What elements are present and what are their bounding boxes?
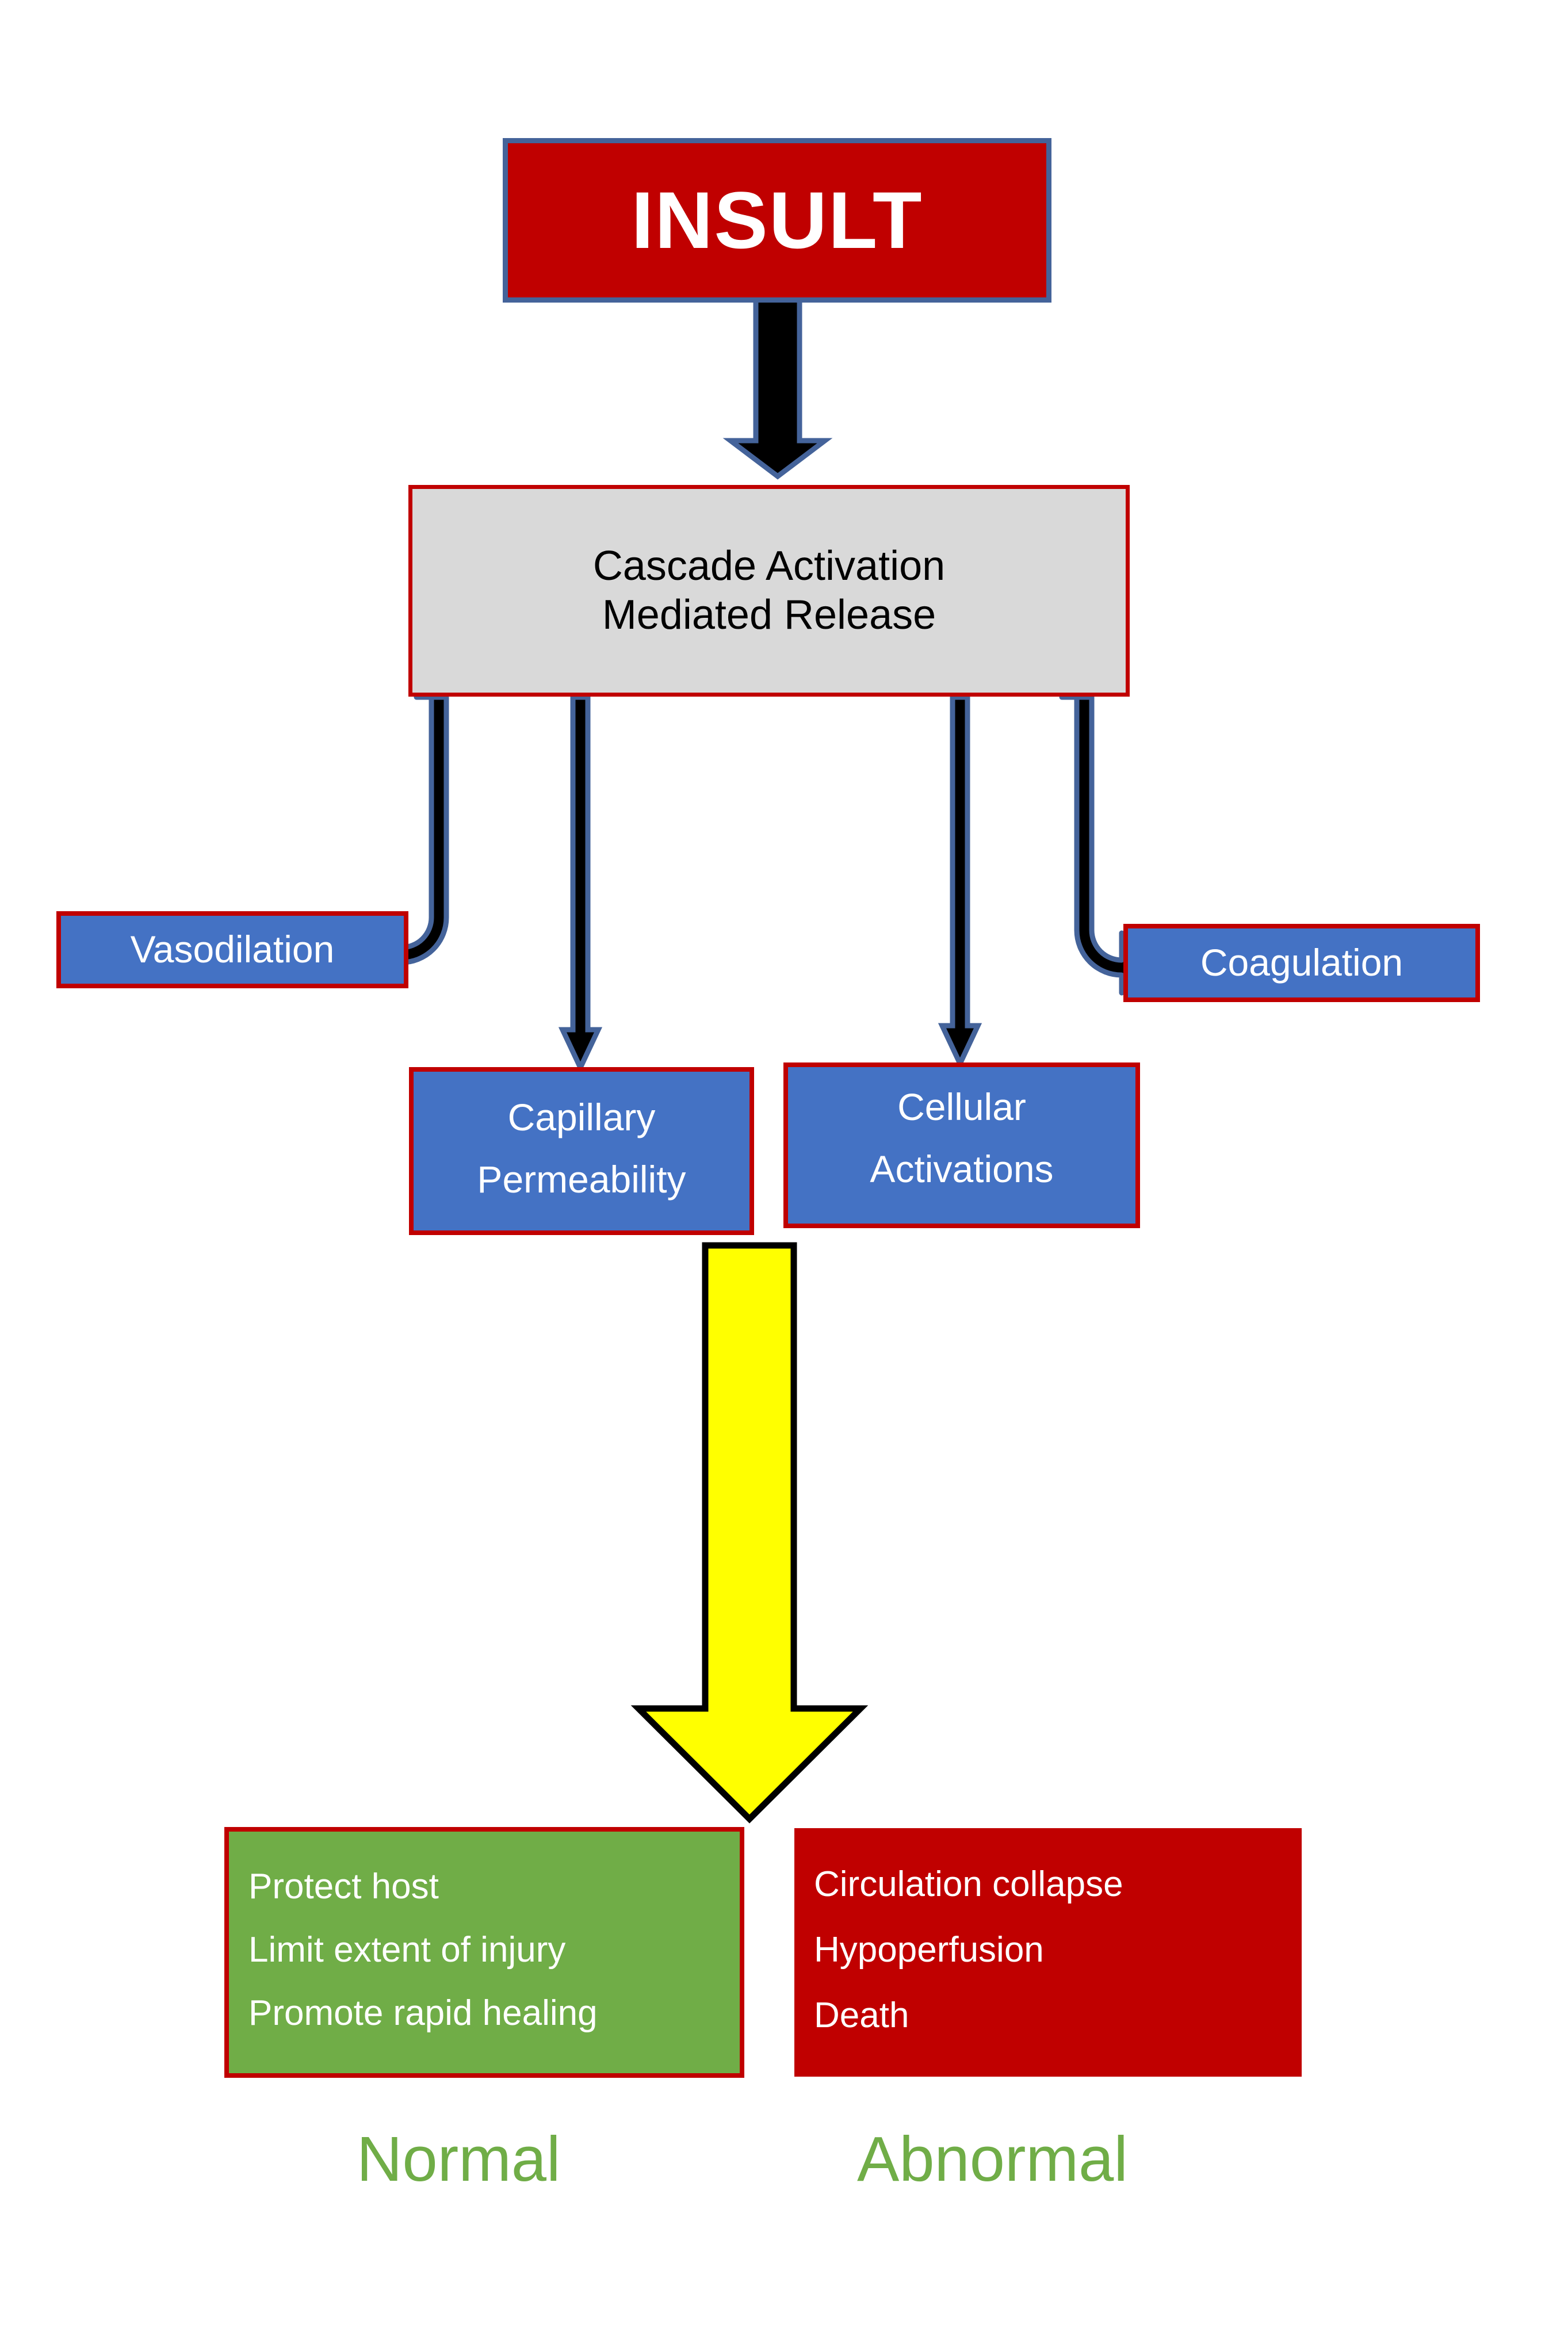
- arrow-to-outcomes-big: [638, 1245, 861, 1819]
- coagulation-label: Coagulation: [1200, 941, 1403, 985]
- normal-outcome-item: Promote rapid healing: [248, 1993, 740, 2034]
- capillary-permeability-node: Capillary Permeability: [409, 1067, 754, 1235]
- coagulation-node: Coagulation: [1123, 924, 1480, 1002]
- abnormal-outcome-node: Circulation collapse Hypoperfusion Death: [794, 1828, 1302, 2077]
- cascade-label-line2: Mediated Release: [602, 591, 936, 640]
- vasodilation-label: Vasodilation: [131, 927, 335, 972]
- insult-label: INSULT: [631, 173, 923, 267]
- cellular-activations-node: Cellular Activations: [783, 1062, 1140, 1228]
- cellular-label-line2: Activations: [870, 1147, 1053, 1192]
- abnormal-caption: Abnormal: [857, 2123, 1128, 2196]
- capillary-label-line2: Permeability: [477, 1157, 686, 1202]
- normal-outcome-node: Protect host Limit extent of injury Prom…: [224, 1827, 744, 2078]
- insult-node: INSULT: [503, 138, 1051, 303]
- abnormal-outcome-item: Hypoperfusion: [814, 1929, 1302, 1970]
- capillary-label-line1: Capillary: [508, 1095, 656, 1140]
- normal-outcome-item: Protect host: [248, 1866, 740, 1907]
- cellular-label-line1: Cellular: [897, 1085, 1026, 1130]
- normal-caption: Normal: [357, 2123, 561, 2196]
- cascade-activation-node: Cascade Activation Mediated Release: [408, 485, 1130, 697]
- abnormal-outcome-item: Circulation collapse: [814, 1864, 1302, 1905]
- cascade-label-line1: Cascade Activation: [593, 542, 945, 591]
- arrow-cascade-to-capillary: [563, 697, 598, 1068]
- arrow-cascade-to-cellular: [942, 697, 978, 1064]
- abnormal-outcome-item: Death: [814, 1995, 1302, 2036]
- flowchart-canvas: INSULT Cascade Activation Mediated Relea…: [0, 0, 1568, 2343]
- normal-outcome-item: Limit extent of injury: [248, 1929, 740, 1970]
- vasodilation-node: Vasodilation: [56, 911, 408, 988]
- arrow-insult-to-cascade: [731, 299, 825, 476]
